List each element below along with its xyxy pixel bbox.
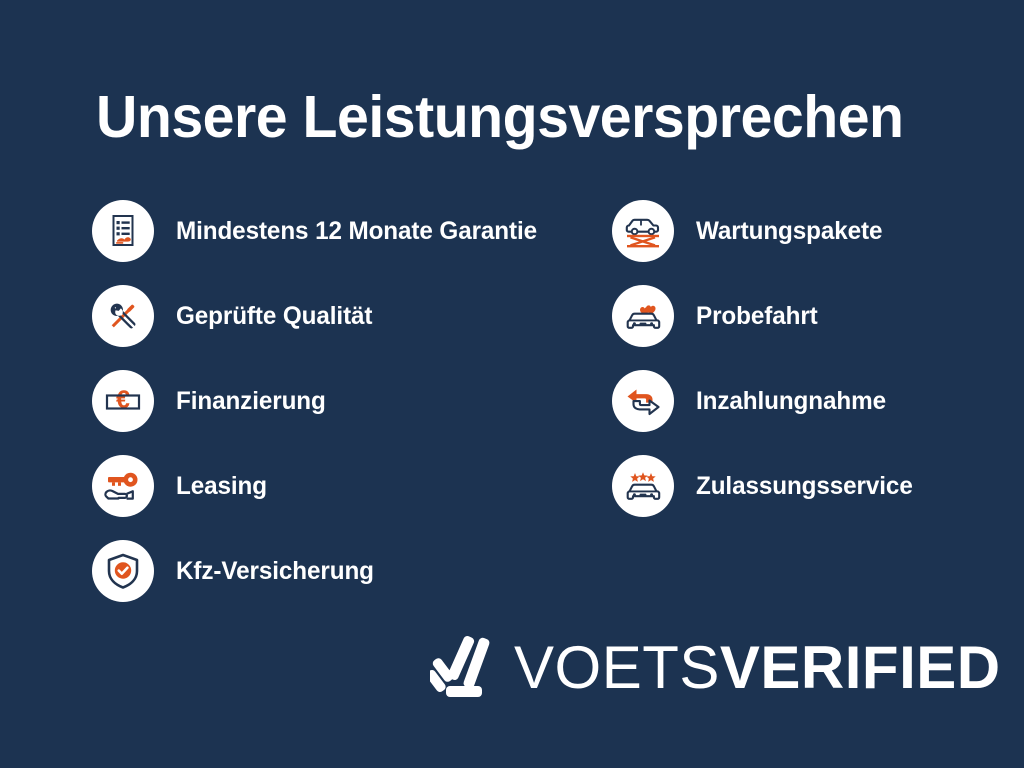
- voets-v-checkmark-icon: [430, 632, 492, 704]
- feature-label: Zulassungsservice: [696, 455, 913, 517]
- feature-item-finanzierung: € Finanzierung: [92, 370, 592, 455]
- feature-item-qualitaet: Geprüfte Qualität: [92, 285, 592, 370]
- promo-banner: Unsere Leistungsversprechen: [0, 0, 1024, 768]
- page-title: Unsere Leistungsversprechen: [96, 82, 904, 152]
- voets-verified-logo: VOETSVERIFIED: [430, 632, 1001, 704]
- feature-label: Leasing: [176, 455, 267, 517]
- feature-label: Finanzierung: [176, 370, 326, 432]
- logo-text-voets: VOETS: [514, 634, 720, 701]
- key-in-hand-icon: [92, 455, 154, 517]
- euro-banknote-icon: €: [92, 370, 154, 432]
- features-column-left: Mindestens 12 Monate Garantie Geprüfte Q: [92, 200, 592, 625]
- feature-item-probefahrt: Probefahrt: [612, 285, 1012, 370]
- feature-label: Probefahrt: [696, 285, 818, 347]
- feature-item-zulassungsservice: Zulassungsservice: [612, 455, 1012, 540]
- exchange-arrows-icon: [612, 370, 674, 432]
- feature-label: Inzahlungnahme: [696, 370, 886, 432]
- wrench-screwdriver-icon: [92, 285, 154, 347]
- features-column-right: Wartungspakete P: [612, 200, 1012, 540]
- logo-text-verified: VERIFIED: [720, 634, 1001, 701]
- feature-item-versicherung: Kfz-Versicherung: [92, 540, 592, 625]
- feature-label: Geprüfte Qualität: [176, 285, 372, 347]
- feature-label: Mindestens 12 Monate Garantie: [176, 200, 537, 262]
- certificate-document-icon: [92, 200, 154, 262]
- feature-item-garantie: Mindestens 12 Monate Garantie: [92, 200, 592, 285]
- car-on-lift-icon: [612, 200, 674, 262]
- feature-item-wartungspakete: Wartungspakete: [612, 200, 1012, 285]
- feature-item-inzahlungnahme: Inzahlungnahme: [612, 370, 1012, 455]
- feature-label: Kfz-Versicherung: [176, 540, 374, 602]
- car-stars-icon: [612, 455, 674, 517]
- feature-label: Wartungspakete: [696, 200, 882, 262]
- car-hearts-icon: [612, 285, 674, 347]
- svg-text:€: €: [116, 386, 130, 414]
- feature-item-leasing: Leasing: [92, 455, 592, 540]
- logo-wordmark: VOETSVERIFIED: [514, 634, 1001, 702]
- shield-check-icon: [92, 540, 154, 602]
